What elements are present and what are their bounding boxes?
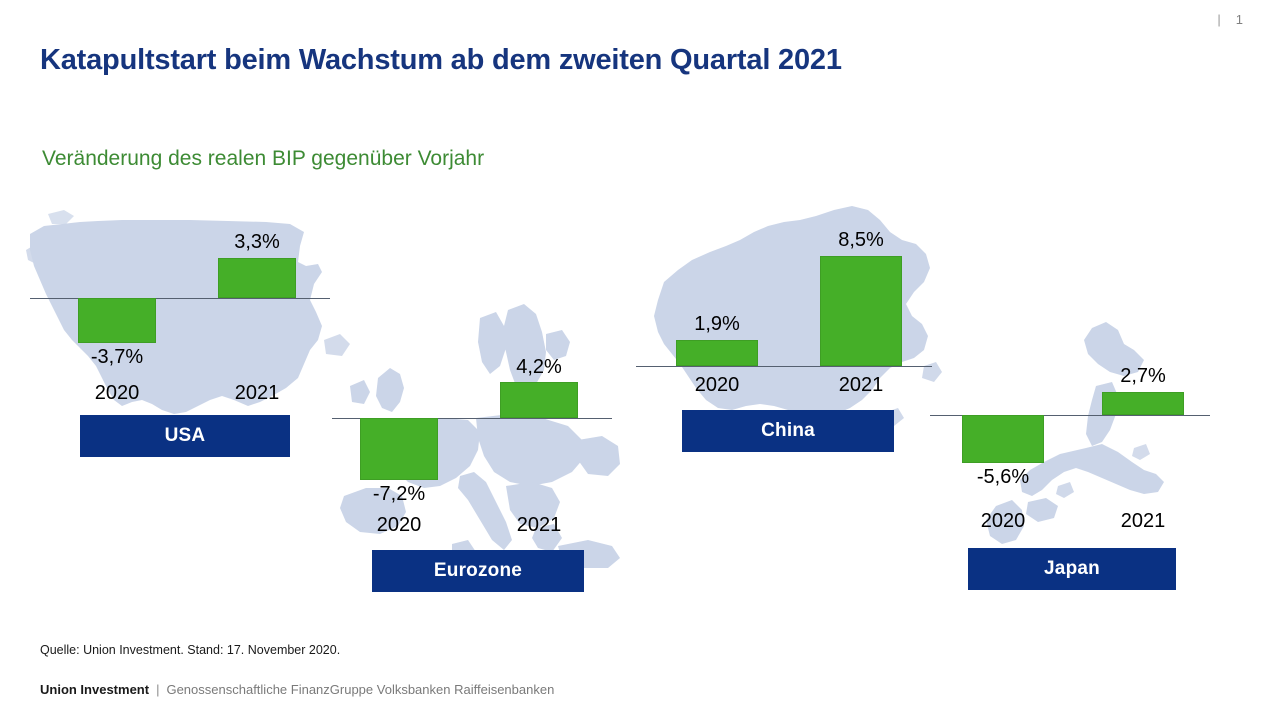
x-tick-japan-2021: 2021 — [1088, 510, 1198, 533]
bar-china-2021[interactable] — [820, 256, 902, 366]
chart-subtitle: Veränderung des realen BIP gegenüber Vor… — [42, 147, 484, 171]
bar-value-japan-2021: 2,7% — [1088, 365, 1198, 388]
bar-value-japan-2020: -5,6% — [948, 466, 1058, 489]
bar-value-china-2020: 1,9% — [662, 313, 772, 336]
country-label-china[interactable]: China — [682, 410, 894, 452]
bar-japan-2020[interactable] — [962, 415, 1044, 463]
page-separator: | — [1217, 12, 1221, 27]
bar-japan-2021[interactable] — [1102, 392, 1184, 415]
brand-separator: | — [156, 682, 159, 697]
x-tick-china-2020: 2020 — [662, 374, 772, 397]
panel-china: 1,9% 8,5% 2020 2021 China — [628, 196, 948, 466]
page-number: 1 — [1236, 12, 1244, 27]
bar-value-china-2021: 8,5% — [806, 229, 916, 252]
brand-name: Union Investment — [40, 682, 149, 697]
bar-eurozone-2021[interactable] — [500, 382, 578, 418]
slide-header: |1 Katapultstart beim Wachstum ab dem zw… — [0, 0, 1280, 110]
x-tick-eurozone-2021: 2021 — [484, 514, 594, 537]
x-tick-usa-2021: 2021 — [202, 382, 312, 405]
panel-japan: -5,6% 2,7% 2020 2021 Japan — [920, 320, 1220, 610]
bar-eurozone-2020[interactable] — [360, 418, 438, 480]
bar-value-usa-2020: -3,7% — [62, 346, 172, 369]
bar-usa-2020[interactable] — [78, 298, 156, 343]
zero-baseline — [636, 366, 932, 367]
bar-value-eurozone-2020: -7,2% — [344, 483, 454, 506]
panel-eurozone: -7,2% 4,2% 2020 2021 Eurozone — [320, 300, 630, 600]
country-label-japan[interactable]: Japan — [968, 548, 1176, 590]
x-tick-japan-2020: 2020 — [948, 510, 1058, 533]
bar-value-eurozone-2021: 4,2% — [484, 356, 594, 379]
bar-usa-2021[interactable] — [218, 258, 296, 298]
zero-baseline — [30, 298, 330, 299]
panel-usa: -3,7% 3,3% 2020 2021 USA — [22, 200, 352, 470]
x-tick-usa-2020: 2020 — [62, 382, 172, 405]
country-label-usa[interactable]: USA — [80, 415, 290, 457]
source-note: Quelle: Union Investment. Stand: 17. Nov… — [40, 643, 340, 657]
country-label-eurozone[interactable]: Eurozone — [372, 550, 584, 592]
page-title: Katapultstart beim Wachstum ab dem zweit… — [40, 44, 842, 77]
brand-tagline: Genossenschaftliche FinanzGruppe Volksba… — [166, 682, 554, 697]
bar-value-usa-2021: 3,3% — [202, 231, 312, 254]
brand-footer: Union Investment|Genossenschaftliche Fin… — [40, 682, 554, 697]
page-marker: |1 — [1217, 12, 1244, 27]
bar-china-2020[interactable] — [676, 340, 758, 366]
x-tick-china-2021: 2021 — [806, 374, 916, 397]
x-tick-eurozone-2020: 2020 — [344, 514, 454, 537]
